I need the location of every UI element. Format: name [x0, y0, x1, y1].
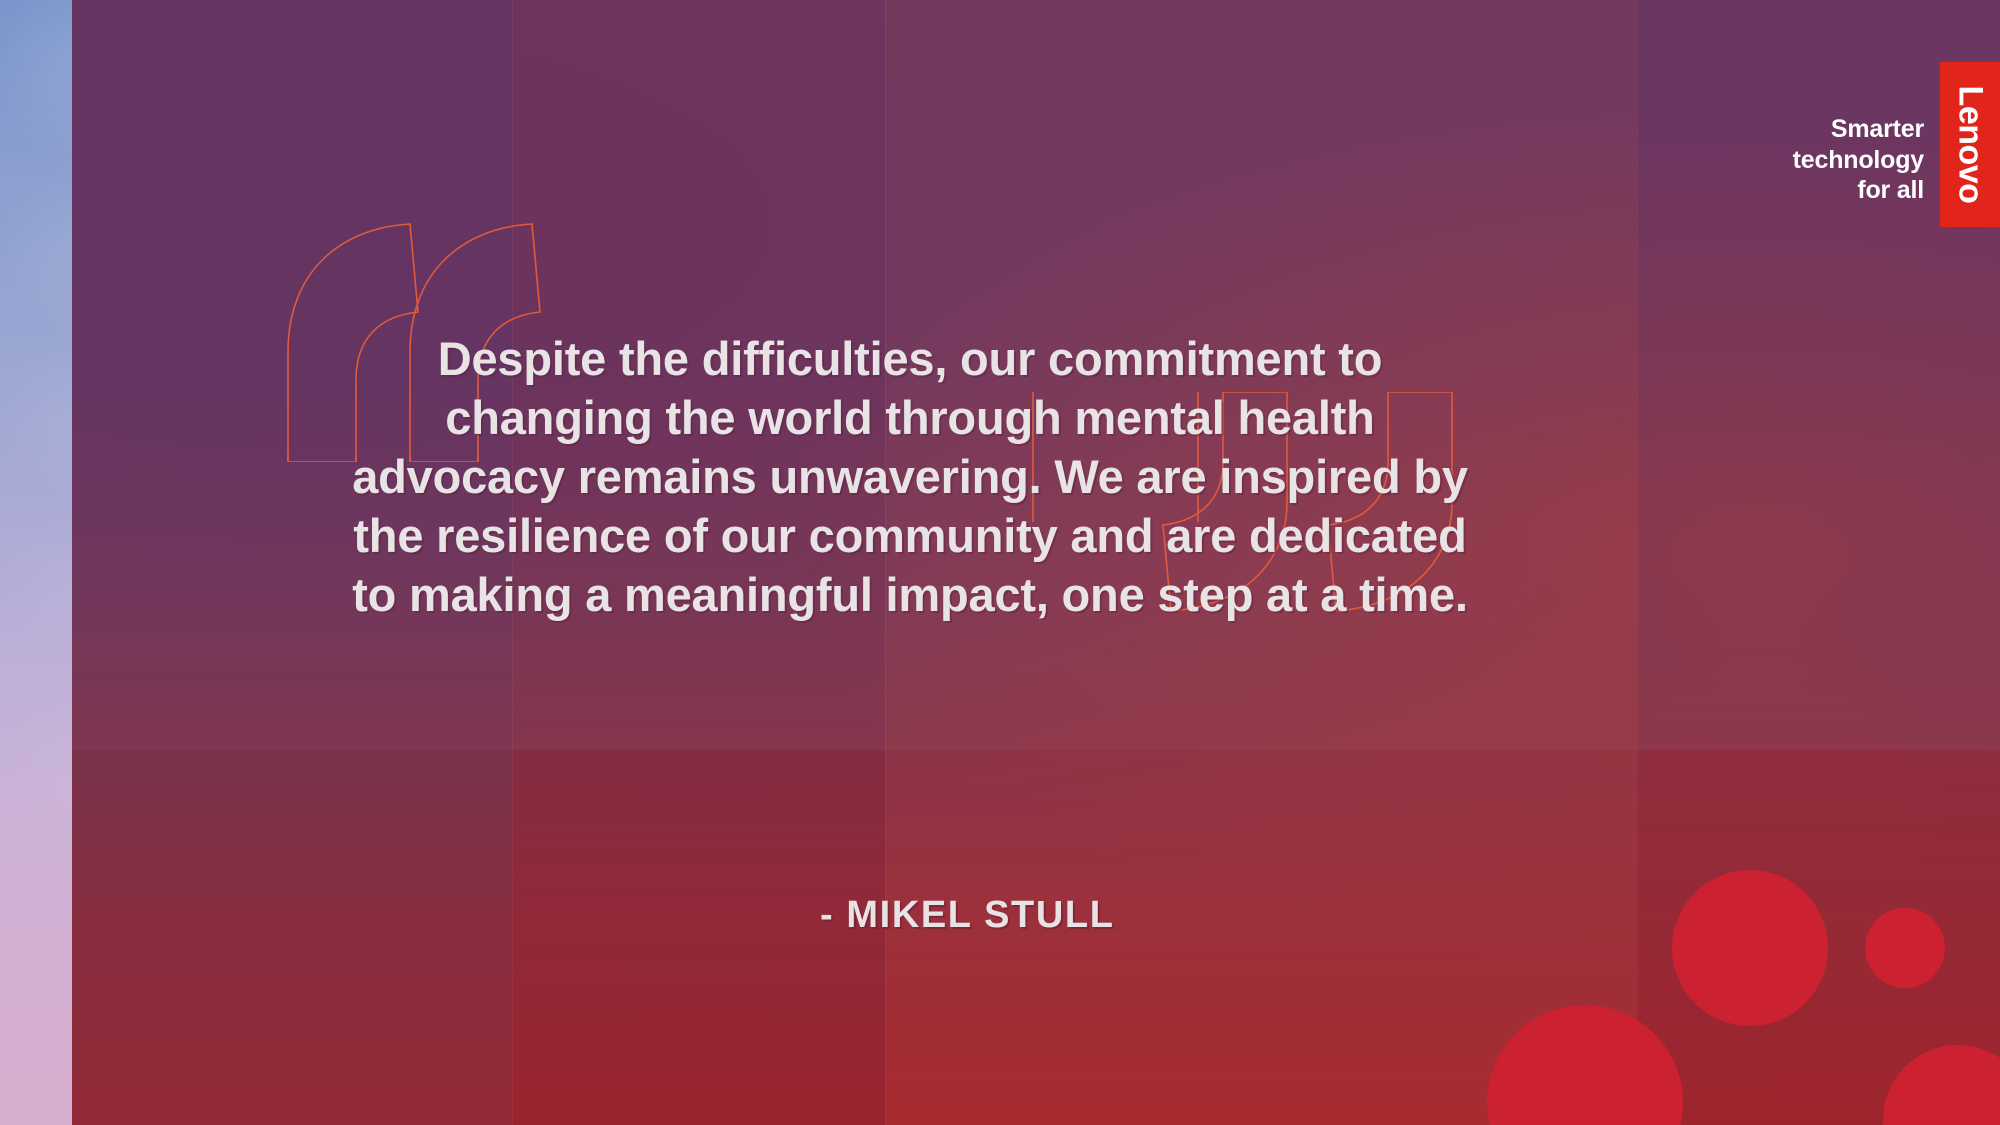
- band-divider-3: [1637, 0, 1638, 1125]
- quote-block: Despite the difficulties, our commitment…: [340, 330, 1480, 625]
- lenovo-logo: Lenovo: [1940, 62, 2000, 227]
- brand-tagline: Smarter technology for all: [1793, 114, 1940, 206]
- quote-slide: Despite the difficulties, our commitment…: [0, 0, 2000, 1125]
- quote-text: Despite the difficulties, our commitment…: [340, 330, 1480, 625]
- quote-attribution: - MIKEL STULL: [820, 894, 1115, 937]
- brand-tagline-line-1: Smarter: [1793, 114, 1924, 145]
- brand-lockup: Smarter technology for all Lenovo: [1793, 62, 2000, 227]
- lenovo-logo-text: Lenovo: [1951, 86, 1990, 204]
- left-gradient-strip: [0, 0, 72, 1125]
- brand-tagline-line-3: for all: [1793, 175, 1924, 206]
- brand-tagline-line-2: technology: [1793, 145, 1924, 176]
